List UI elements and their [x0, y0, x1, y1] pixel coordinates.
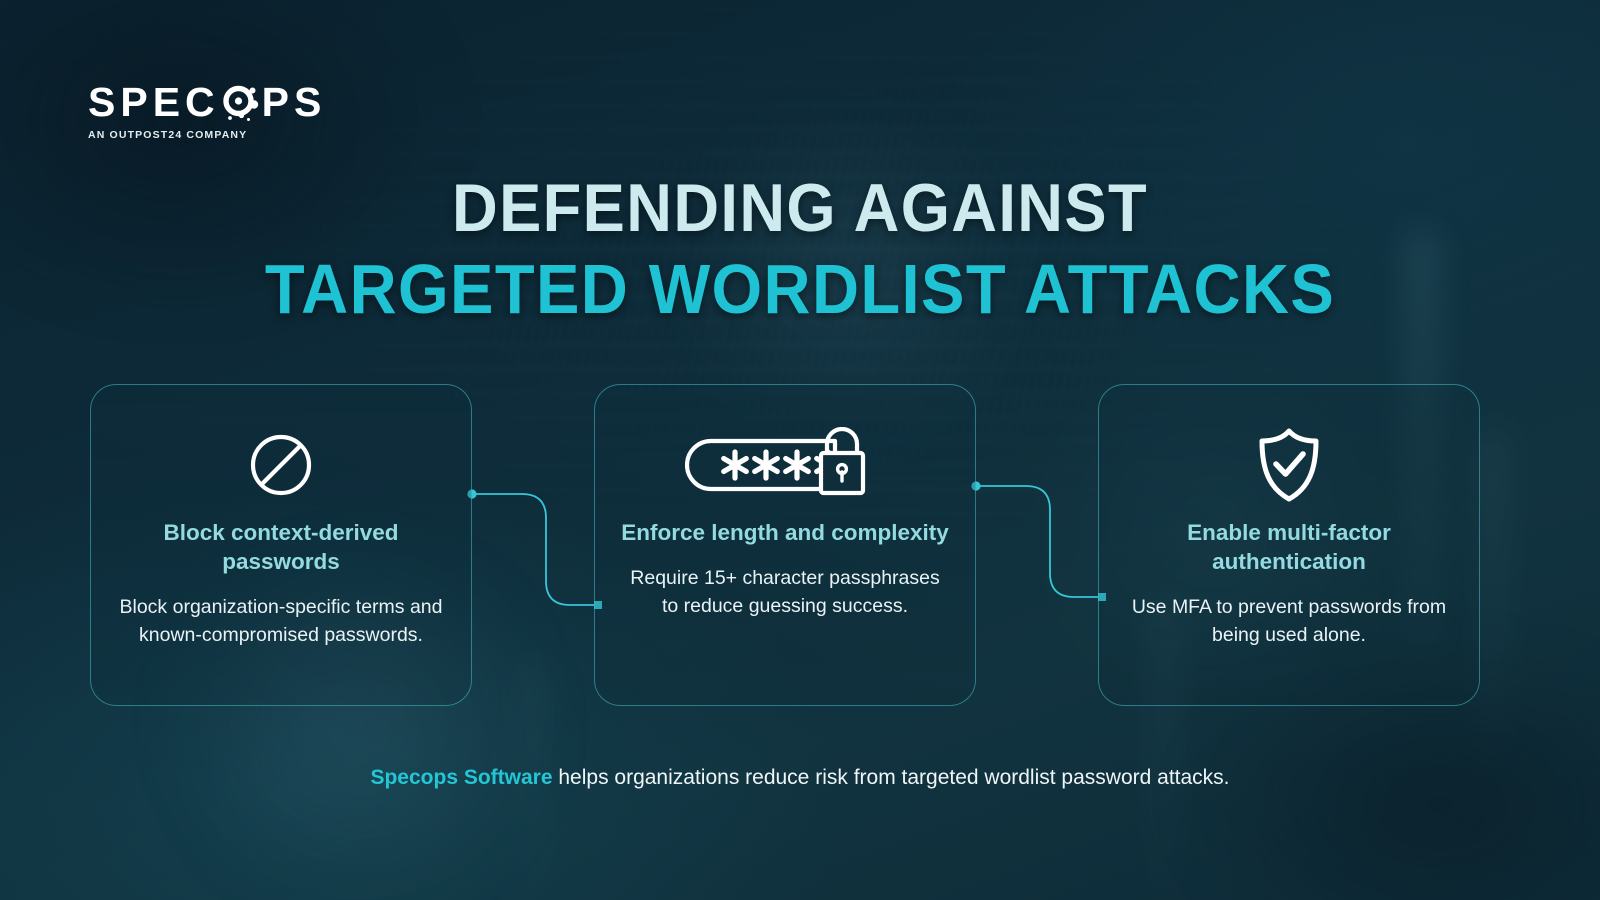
connector-path-2: [976, 486, 1102, 597]
background-streak: [1480, 430, 1506, 770]
card-body: Use MFA to prevent passwords from being …: [1125, 593, 1453, 650]
logo-word-before: SPEC: [88, 82, 220, 123]
card-enforce-length-and-complexity[interactable]: Enforce length and complexity Require 15…: [594, 384, 976, 706]
logo-word-after: PS: [262, 82, 327, 123]
connector-path-1: [472, 494, 598, 605]
headline-line-2: TARGETED WORDLIST ATTACKS: [56, 248, 1544, 331]
footer-text: helps organizations reduce risk from tar…: [553, 766, 1230, 789]
card-body: Block organization-specific terms and kn…: [117, 593, 445, 650]
card-block-context-derived-passwords[interactable]: Block context-derived passwords Block or…: [90, 384, 472, 706]
card-body: Require 15+ character passphrases to red…: [621, 564, 949, 621]
shield-check-icon: [1253, 417, 1325, 513]
card-enable-multi-factor-authentication[interactable]: Enable multi-factor authentication Use M…: [1098, 384, 1480, 706]
prohibition-icon: [248, 417, 314, 513]
card-title: Enable multi-factor authentication: [1125, 519, 1453, 577]
footer-statement: Specops Software helps organizations red…: [0, 764, 1600, 791]
headline-line-1: DEFENDING AGAINST: [56, 168, 1544, 248]
footer-brand: Specops Software: [370, 766, 552, 789]
page-title: DEFENDING AGAINST TARGETED WORDLIST ATTA…: [0, 168, 1600, 331]
card-title: Block context-derived passwords: [117, 519, 445, 577]
infographic-canvas: SPEC PS AN OUTPOST24 COMPANY DEFENDING A…: [0, 0, 1600, 900]
orbit-o-icon: [221, 82, 261, 123]
logo-tagline: AN OUTPOST24 COMPANY: [88, 129, 326, 141]
logo-wordmark: SPEC PS: [88, 82, 326, 123]
password-lock-icon: [685, 417, 885, 513]
specops-logo: SPEC PS AN OUTPOST24 COMPANY: [88, 82, 326, 141]
card-title: Enforce length and complexity: [621, 519, 949, 548]
